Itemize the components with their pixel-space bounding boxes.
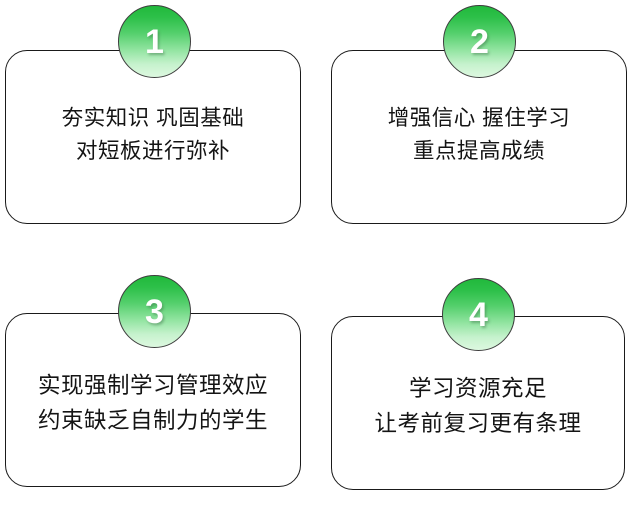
card-4-number-badge: 4 <box>442 278 515 351</box>
card-3-text-line-1: 实现强制学习管理效应 <box>5 369 301 404</box>
card-4-text-line-1: 学习资源充足 <box>331 372 625 407</box>
card-4-text: 学习资源充足 让考前复习更有条理 <box>331 372 625 442</box>
card-1-number-label: 1 <box>119 25 190 59</box>
card-2-text: 增强信心 握住学习 重点提高成绩 <box>331 102 627 169</box>
card-3-number-label: 3 <box>119 295 190 329</box>
card-2-text-line-2: 重点提高成绩 <box>331 135 627 168</box>
card-1-text-line-2: 对短板进行弥补 <box>5 135 301 168</box>
card-4-number-label: 4 <box>443 298 514 332</box>
card-2-number-badge: 2 <box>443 5 516 78</box>
card-2-text-line-1: 增强信心 握住学习 <box>331 102 627 135</box>
card-2-number-label: 2 <box>444 25 515 59</box>
card-1-number-badge: 1 <box>118 5 191 78</box>
numbered-card-grid: 1 夯实知识 巩固基础 对短板进行弥补 2 增强信心 握住学习 重点提高成绩 3… <box>0 0 633 505</box>
card-3-text: 实现强制学习管理效应 约束缺乏自制力的学生 <box>5 369 301 439</box>
card-3-number-badge: 3 <box>118 275 191 348</box>
card-1-text-line-1: 夯实知识 巩固基础 <box>5 102 301 135</box>
card-1-text: 夯实知识 巩固基础 对短板进行弥补 <box>5 102 301 169</box>
card-3-text-line-2: 约束缺乏自制力的学生 <box>5 404 301 439</box>
card-4-text-line-2: 让考前复习更有条理 <box>331 407 625 442</box>
